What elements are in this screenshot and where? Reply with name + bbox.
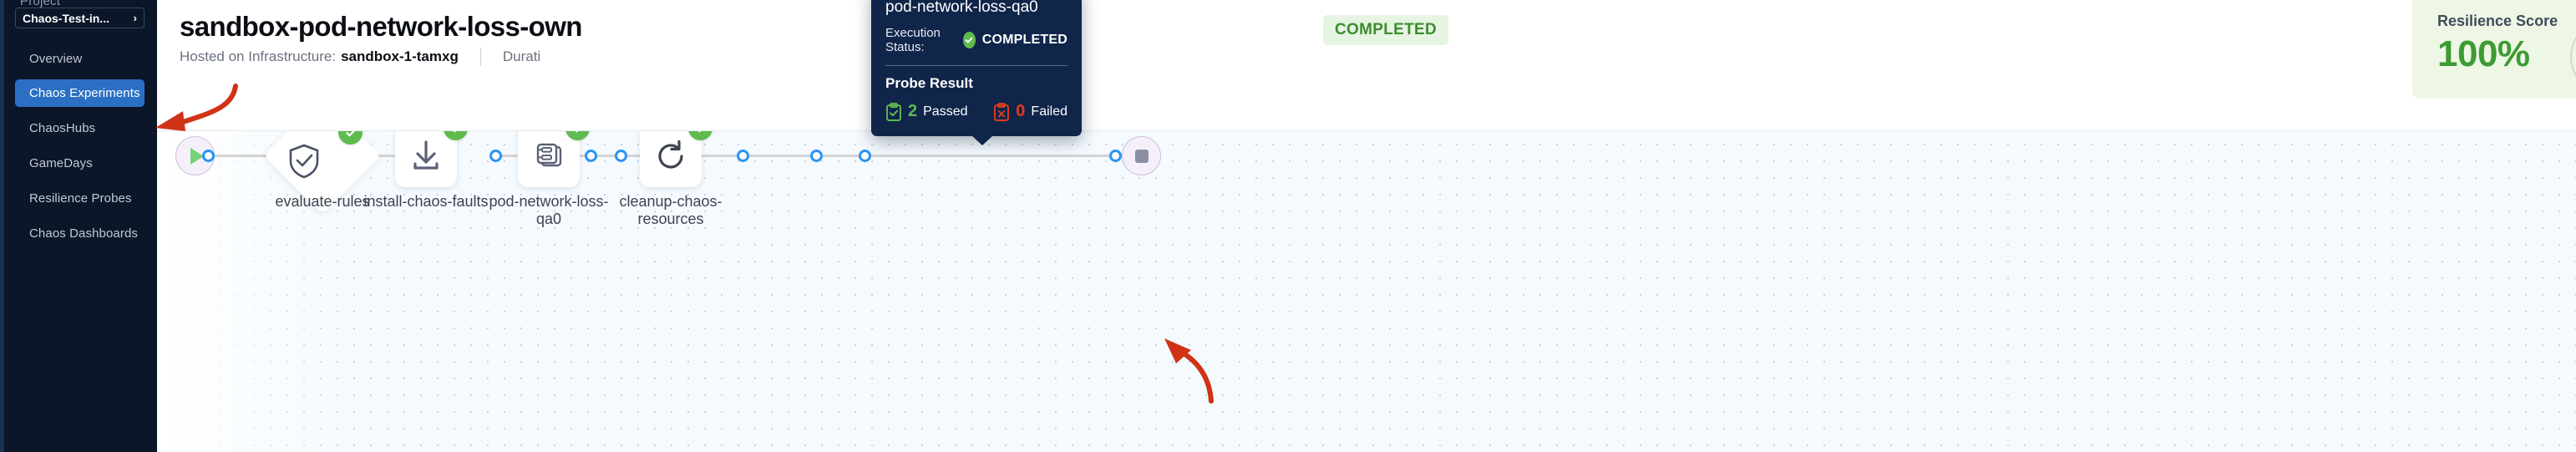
probe-failed-label: Failed [1031, 104, 1067, 119]
duration-label: Durati [503, 48, 540, 65]
experiment-header: sandbox-pod-network-loss-own Hosted on I… [157, 0, 2576, 131]
node-label-install-chaos-faults: install-chaos-faults [355, 193, 497, 211]
sidebar-item-label: Chaos Experiments [29, 86, 140, 100]
chevron-right-icon: › [134, 13, 137, 23]
sidebar-item-chaos-dashboards[interactable]: Chaos Dashboards [15, 220, 145, 247]
node-cleanup-chaos-resources[interactable] [640, 131, 702, 187]
node-pod-network-loss-qa0[interactable] [518, 131, 580, 187]
sidebar-item-resilience-probes[interactable]: Resilience Probes [15, 185, 145, 212]
port-end-in[interactable] [1109, 150, 1122, 162]
sidebar-item-chaos-experiments[interactable]: Chaos Experiments [15, 79, 145, 107]
tooltip-title: pod-network-loss-qa0 [885, 0, 1067, 17]
project-name: Chaos-Test-in... [23, 12, 134, 25]
sidebar-item-label: Chaos Dashboards [29, 226, 138, 241]
download-icon [408, 139, 444, 174]
port-cleanup-in[interactable] [810, 150, 823, 162]
port-install-out[interactable] [615, 150, 627, 162]
tooltip-execution-status-label: Execution Status: [885, 26, 956, 54]
sidebar-item-label: GameDays [29, 156, 93, 170]
clipboard-x-icon [993, 103, 1010, 121]
screen-root: Project Chaos-Test-in... › Overview Chao… [0, 0, 2576, 452]
sidebar-item-label: ChaosHubs [29, 121, 95, 135]
sidebar-item-chaoshubs[interactable]: ChaosHubs [15, 114, 145, 142]
sidebar-item-gamedays[interactable]: GameDays [15, 150, 145, 177]
left-sidebar: Project Chaos-Test-in... › Overview Chao… [0, 0, 157, 452]
stop-icon [1135, 150, 1149, 163]
probe-passed-group: 2 Passed [885, 102, 968, 121]
status-badge: COMPLETED [1323, 15, 1448, 45]
experiment-meta: Hosted on Infrastructure: sandbox-1-tamx… [180, 48, 540, 66]
tooltip-divider [885, 65, 1067, 66]
project-selector[interactable]: Chaos-Test-in... › [15, 8, 145, 28]
check-circle-icon [963, 32, 976, 48]
tooltip-execution-status-value: COMPLETED [982, 33, 1067, 48]
tooltip-pointer [971, 135, 993, 145]
resilience-score-card: Resilience Score 100% i [2412, 0, 2576, 99]
pipeline-canvas[interactable]: evaluate-rules install-chaos-faults [157, 131, 2576, 452]
meta-divider [480, 48, 481, 66]
port-start-out[interactable] [202, 150, 215, 162]
sidebar-item-label: Overview [29, 52, 82, 66]
resilience-score-value: 100% [2437, 33, 2530, 75]
connector-cleanup-to-end [864, 155, 1114, 157]
shield-check-icon [281, 138, 327, 185]
tooltip-probe-counts: 2 Passed 0 Failed [885, 102, 1067, 121]
clipboard-check-icon [885, 103, 902, 121]
chaos-fault-icon [532, 140, 565, 173]
infrastructure-label: Hosted on Infrastructure: [180, 48, 336, 65]
end-node[interactable] [1122, 136, 1161, 175]
target-illustration-icon [2548, 0, 2576, 99]
node-label-cleanup-chaos-resources: cleanup-chaos-resources [600, 193, 742, 227]
node-install-chaos-faults[interactable] [395, 131, 457, 187]
port-cleanup-out[interactable] [859, 150, 871, 162]
node-label-pod-network-loss-qa0: pod-network-loss-qa0 [478, 193, 620, 227]
probe-failed-group: 0 Failed [993, 102, 1067, 121]
tooltip-execution-status-row: Execution Status: COMPLETED [885, 26, 1067, 54]
probe-failed-count: 0 [1016, 102, 1025, 121]
probe-passed-label: Passed [923, 104, 967, 119]
node-tooltip: pod-network-loss-qa0 Execution Status: C… [871, 0, 1082, 136]
page-title: sandbox-pod-network-loss-own [180, 11, 582, 43]
tooltip-probe-result-label: Probe Result [885, 75, 1067, 92]
port-pod-out[interactable] [737, 150, 749, 162]
resilience-score-title: Resilience Score [2437, 13, 2558, 30]
port-cleanup-in-hidden[interactable] [585, 150, 597, 162]
port-evaluate-out[interactable] [489, 150, 502, 162]
sidebar-item-overview[interactable]: Overview [15, 45, 145, 73]
sidebar-accent-edge [0, 0, 4, 452]
infrastructure-value[interactable]: sandbox-1-tamxg [341, 48, 459, 65]
refresh-icon [653, 139, 688, 174]
sidebar-item-label: Resilience Probes [29, 191, 132, 206]
probe-passed-count: 2 [908, 102, 917, 121]
